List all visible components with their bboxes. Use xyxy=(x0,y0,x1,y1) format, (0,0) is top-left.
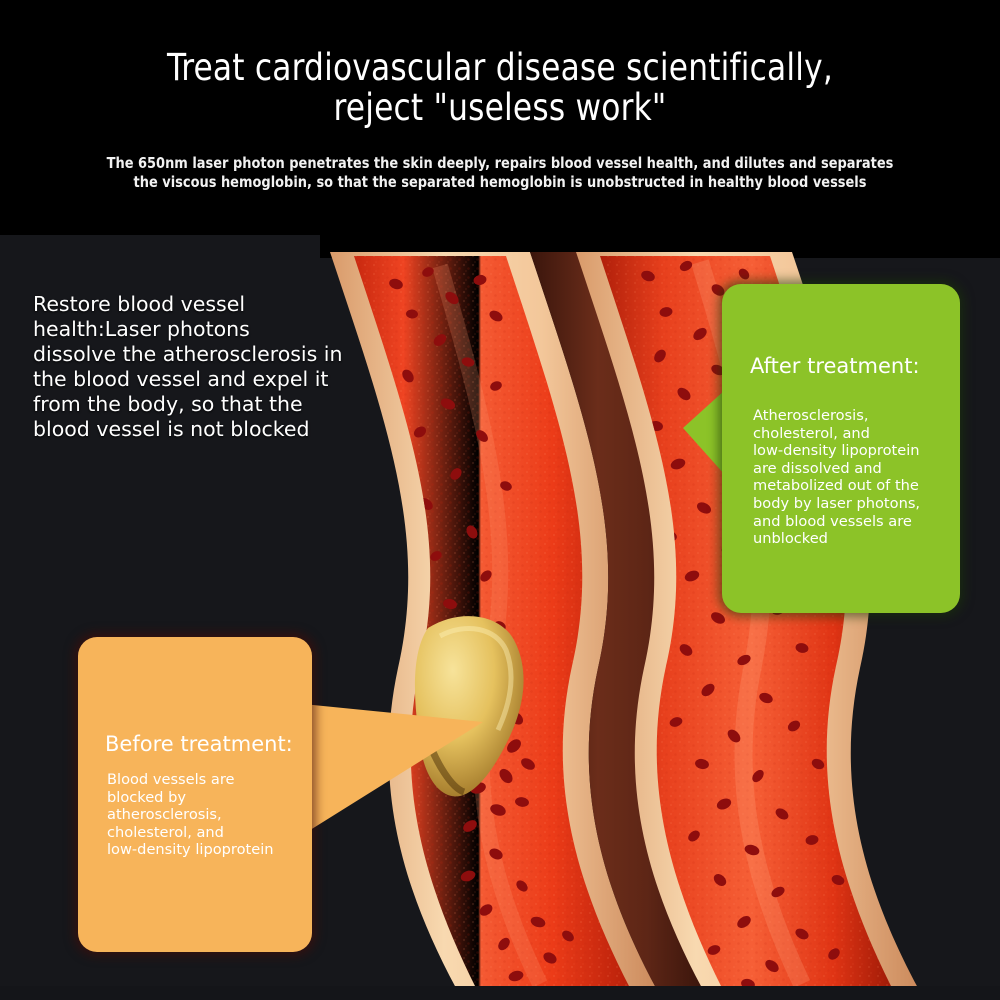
header-band-right xyxy=(320,0,1000,258)
header-band-left xyxy=(0,0,320,235)
callout-after-treatment: After treatment: Atherosclerosis, choles… xyxy=(722,284,960,613)
bottom-strip xyxy=(0,986,1000,1000)
callout-before-body: Blood vessels are blocked by atheroscler… xyxy=(107,771,307,859)
infographic-page: Treat cardiovascular disease scientifica… xyxy=(0,0,1000,1000)
callout-before-title: Before treatment: xyxy=(105,732,293,757)
callout-after-body: Atherosclerosis, cholesterol, and low-de… xyxy=(753,407,958,548)
callout-after-pointer-icon xyxy=(683,390,725,475)
callout-before-pointer-icon xyxy=(283,702,483,847)
callout-after-title: After treatment: xyxy=(750,354,920,379)
callout-before-treatment: Before treatment: Blood vessels are bloc… xyxy=(78,637,312,952)
restore-health-note: Restore blood vessel health:Laser photon… xyxy=(33,292,355,442)
